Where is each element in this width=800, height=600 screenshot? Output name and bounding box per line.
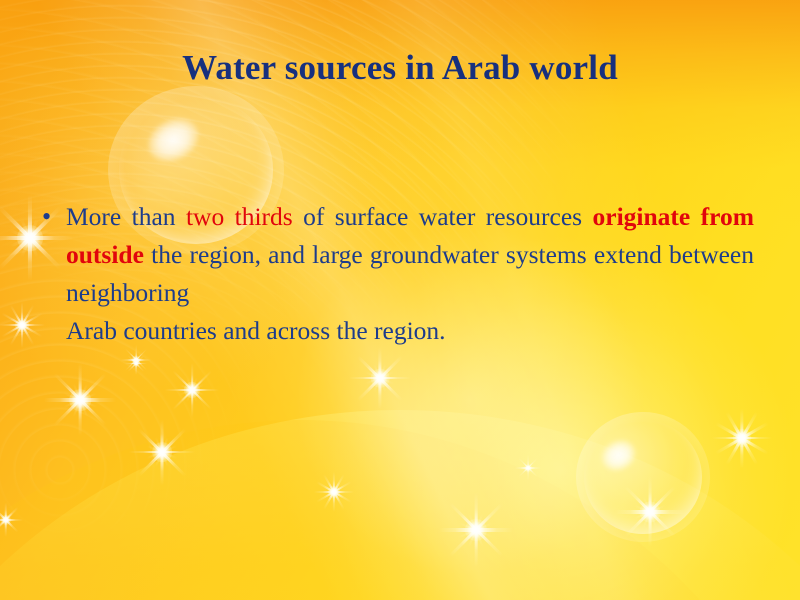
- sparkle-left-bottom-icon: [165, 363, 219, 417]
- bullet-paragraph: More than two thirds of surface water re…: [66, 198, 754, 350]
- sparkle-mid-tiny-icon: [125, 352, 147, 374]
- sparkle-core: [371, 369, 390, 388]
- sparkle-center-icon: [349, 347, 411, 409]
- sparkle-right-upper-icon: [712, 408, 772, 468]
- sparkle-ray: [712, 437, 772, 440]
- sparkle-ray: [125, 363, 147, 364]
- sparkle-ray: [349, 377, 411, 380]
- presentation-slide: Water sources in Arab world • More than …: [0, 0, 800, 600]
- body-segment-plain-3: the region, and large groundwater system…: [66, 240, 754, 307]
- sparkle-ray: [172, 370, 212, 410]
- sparkle-ray: [180, 384, 205, 395]
- sparkle-ray: [180, 384, 205, 395]
- sparkle-ray: [191, 363, 193, 417]
- sparkle-ray: [726, 411, 758, 464]
- sparkle-ray: [72, 384, 87, 417]
- sparkle-ray: [128, 355, 144, 371]
- sparkle-ray: [165, 389, 219, 391]
- sparkle-ray: [125, 349, 147, 371]
- sparkle-ray: [53, 373, 106, 426]
- sparkle-ray: [726, 411, 758, 464]
- sparkle-ray: [28, 195, 32, 281]
- sparkle-ray: [72, 384, 87, 417]
- sparkle-ray: [64, 392, 97, 407]
- sparkle-left-lower-icon: [44, 364, 116, 436]
- sparkle-ray: [53, 373, 106, 426]
- sparkle-ray: [121, 359, 151, 360]
- bullet-list-item: • More than two thirds of surface water …: [36, 198, 754, 350]
- sparkle-ray: [366, 371, 394, 384]
- sparkle-ray: [128, 355, 144, 371]
- sparkle-ray: [78, 364, 81, 436]
- sparkle-ray: [357, 355, 403, 401]
- body-segment-plain-1: More than: [66, 202, 186, 231]
- sparkle-ray: [64, 392, 97, 407]
- body-segment-last-line: Arab countries and across the region.: [66, 312, 754, 350]
- sparkle-ray: [373, 364, 386, 392]
- sparkle-ray: [379, 347, 382, 409]
- bubble-highlight: [140, 110, 206, 170]
- sparkle-ray: [172, 370, 212, 410]
- sparkle-ray: [44, 398, 116, 401]
- sparkle-ray: [357, 355, 403, 401]
- body-segment-highlight-two-thirds: two thirds: [186, 202, 293, 231]
- sparkle-ray: [136, 352, 137, 374]
- sparkle-core: [69, 389, 91, 411]
- sparkle-ray: [186, 378, 197, 403]
- sparkle-ray: [10, 305, 35, 346]
- sparkle-ray: [125, 349, 147, 371]
- sparkle-core: [133, 360, 140, 367]
- sparkle-ray: [373, 364, 386, 392]
- sparkle-ray: [10, 305, 35, 346]
- sparkle-ray: [21, 302, 23, 348]
- sparkle-ray: [186, 378, 197, 403]
- body-segment-plain-2: of surface water resources: [293, 202, 593, 231]
- slide-body: • More than two thirds of surface water …: [36, 198, 754, 350]
- slide-title: Water sources in Arab world: [0, 48, 800, 88]
- sparkle-core: [733, 429, 751, 447]
- sparkle-core: [184, 382, 200, 398]
- sparkle-ray: [366, 371, 394, 384]
- bullet-marker-icon: •: [36, 198, 66, 236]
- sparkle-ray: [741, 408, 744, 468]
- sparkle-core: [15, 318, 29, 332]
- sparkle-ray: [715, 422, 768, 454]
- sparkle-ray: [715, 422, 768, 454]
- sparkle-core: [132, 356, 141, 365]
